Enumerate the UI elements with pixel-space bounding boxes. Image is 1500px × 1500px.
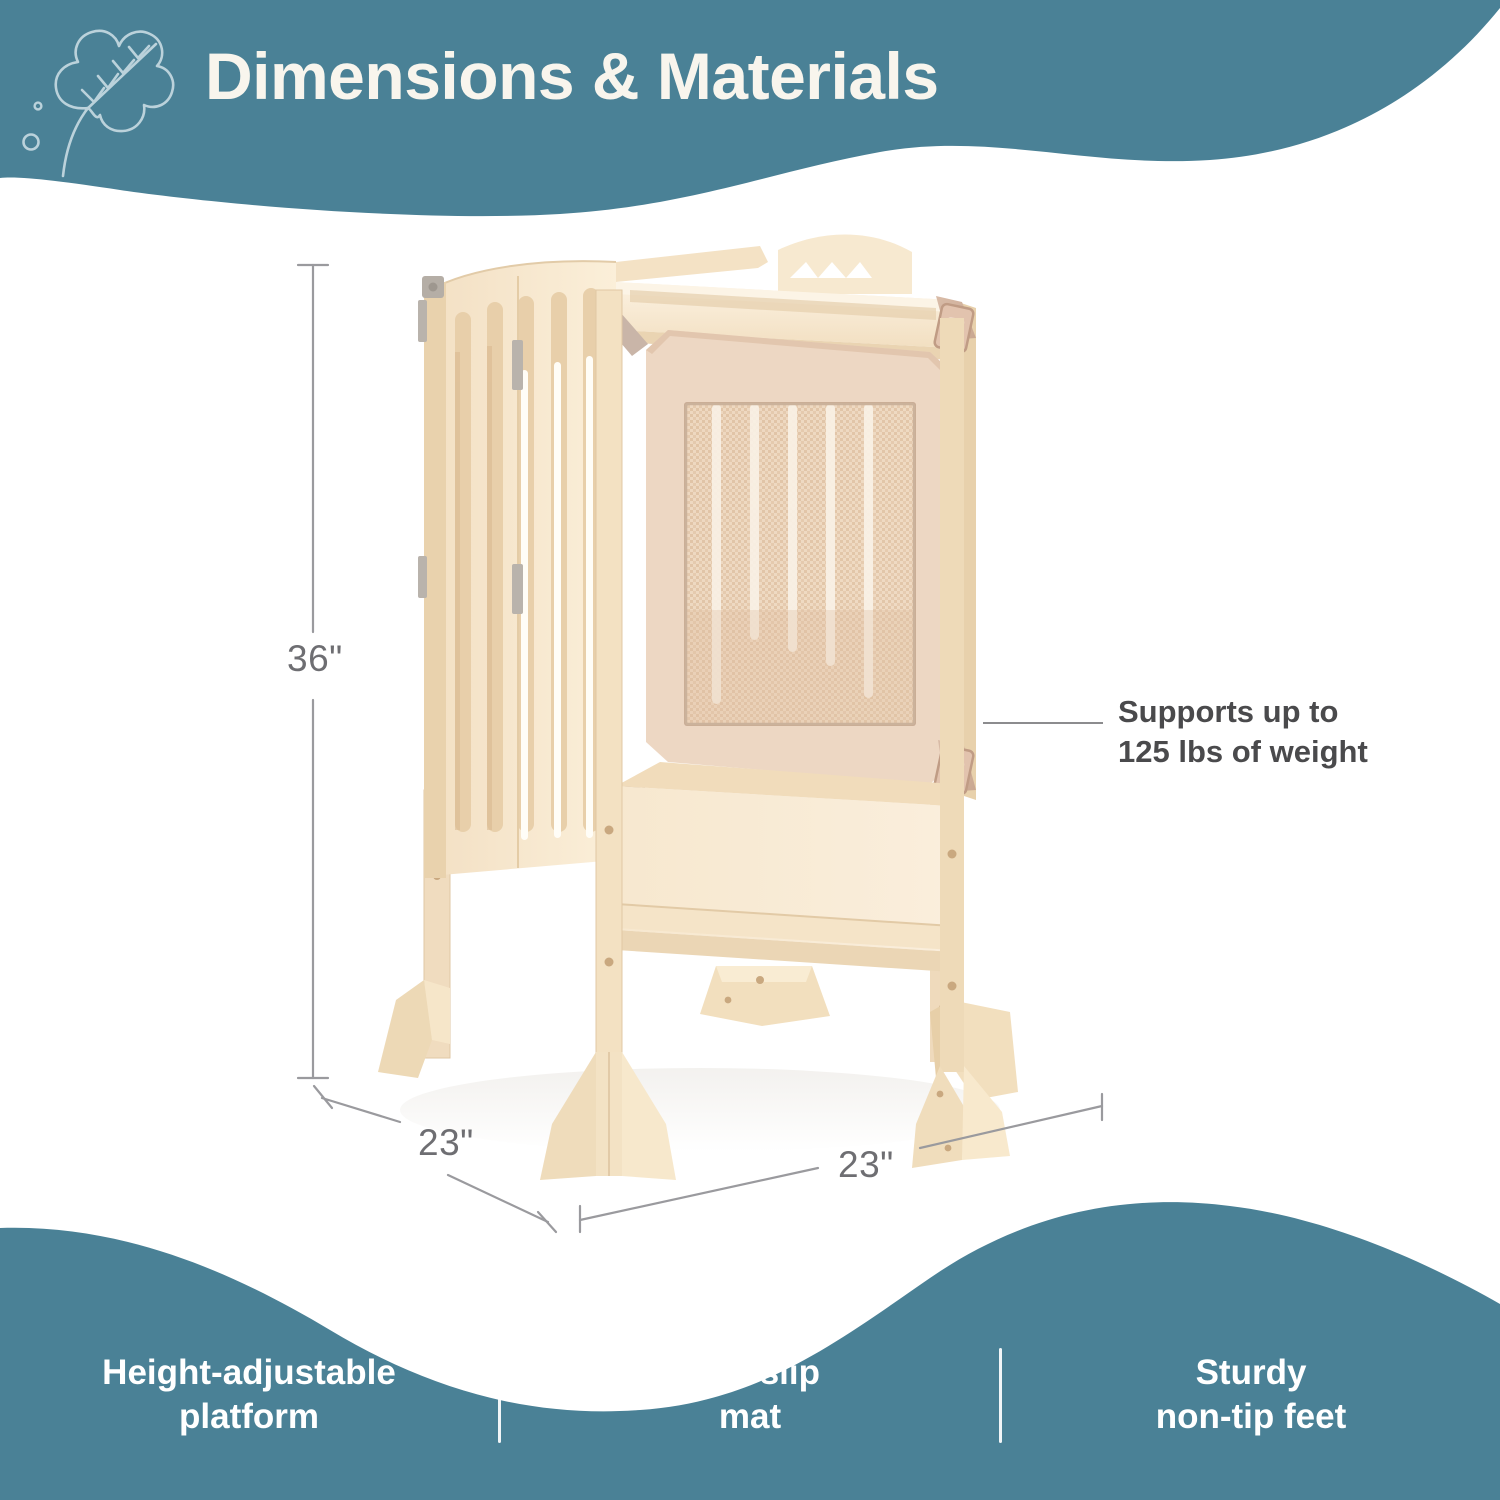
callout-leader-line — [983, 722, 1103, 724]
feature-divider-2 — [999, 1348, 1002, 1443]
feature-item-sturdy-non-tip-feet: Sturdy non-tip feet — [1002, 1351, 1500, 1439]
dimension-width-label: 23" — [838, 1144, 894, 1186]
feature-divider-1 — [498, 1348, 501, 1443]
infographic-canvas: Dimensions & Materials — [0, 0, 1500, 1500]
feature-list: Height-adjustable platform Non-slip mat … — [0, 1330, 1500, 1460]
dimension-depth-label: 23" — [418, 1122, 474, 1164]
dimension-height-label: 36" — [287, 638, 343, 680]
weight-capacity-callout: Supports up to 125 lbs of weight — [1118, 692, 1368, 771]
feature-item-non-slip-mat: Non-slip mat — [501, 1351, 999, 1439]
feature-item-height-adjustable-platform: Height-adjustable platform — [0, 1351, 498, 1439]
